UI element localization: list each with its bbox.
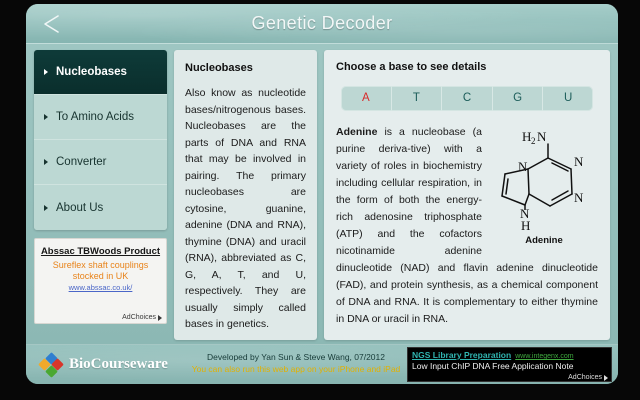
detail-lead: Adenine <box>336 126 377 138</box>
brand-logo[interactable]: BioCourseware <box>40 354 168 376</box>
sidebar-item-label: To Amino Acids <box>56 111 134 123</box>
adchoices-label: AdChoices <box>568 374 602 381</box>
base-selector: A T C G U <box>341 86 593 111</box>
chevron-right-icon <box>44 69 48 75</box>
sidebar-item-to-amino-acids[interactable]: To Amino Acids <box>34 95 167 140</box>
sidebar-ad-body: Sureflex shaft couplings stocked in UK <box>40 260 161 281</box>
biocourseware-diamond-icon <box>40 354 62 376</box>
base-button-a[interactable]: A <box>341 86 392 111</box>
footer-ad-body: Low Input ChIP DNA Free Application Note <box>412 361 607 371</box>
adchoices-triangle-icon <box>158 315 162 321</box>
app-footer: BioCourseware Developed by Yan Sun & Ste… <box>26 344 618 384</box>
amine-n-label: N <box>537 129 547 144</box>
base-button-t[interactable]: T <box>392 86 443 111</box>
molecule-diagram: H 2 N N N N N H Adenine <box>490 122 598 246</box>
info-panel-title: Nucleobases <box>185 62 306 74</box>
page-title: Genetic Decoder <box>26 13 618 34</box>
sidebar-nav: Nucleobases To Amino Acids Converter Abo… <box>34 50 167 230</box>
detail-panel: Choose a base to see details A T C G U <box>324 50 610 340</box>
chevron-right-icon <box>44 159 48 165</box>
molecule-name: Adenine <box>490 235 598 246</box>
footer-ad-headline[interactable]: NGS Library Preparation <box>412 350 511 360</box>
sidebar-advertisement[interactable]: Abssac TBWoods Product Sureflex shaft co… <box>34 238 167 324</box>
app-header: Genetic Decoder <box>26 4 618 44</box>
sidebar-item-about-us[interactable]: About Us <box>34 185 167 230</box>
footer-credits: Developed by Yan Sun & Steve Wang, 07/20… <box>166 351 426 375</box>
sidebar-ad-url[interactable]: www.abssac.co.uk/ <box>40 283 161 292</box>
footer-ad-top-row: NGS Library Preparation www.integenx.com <box>412 350 607 360</box>
chevron-right-icon <box>44 205 48 211</box>
device-frame: Genetic Decoder Nucleobases To Amino Aci… <box>26 4 618 384</box>
ring-n-label-3: N <box>518 159 528 174</box>
adenine-structure-icon: H 2 N N N N N H <box>492 122 596 234</box>
ring-nh-h-label: H <box>521 218 530 233</box>
adchoices-triangle-icon <box>604 375 608 381</box>
sidebar-item-nucleobases[interactable]: Nucleobases <box>34 50 167 95</box>
amine-subscript: 2 <box>531 136 536 146</box>
sidebar-item-label: About Us <box>56 202 103 214</box>
sidebar-item-label: Converter <box>56 156 107 168</box>
adchoices-label: AdChoices <box>122 314 156 321</box>
credit-mobile-note: You can also run this web app on your iP… <box>166 363 426 375</box>
app-root: Genetic Decoder Nucleobases To Amino Aci… <box>0 0 640 400</box>
chevron-right-icon <box>44 114 48 120</box>
footer-ad-url[interactable]: www.integenx.com <box>515 353 573 360</box>
footer-adchoices-button[interactable]: AdChoices <box>568 374 608 381</box>
main-body: Nucleobases To Amino Acids Converter Abo… <box>26 44 618 344</box>
sidebar-item-label: Nucleobases <box>56 66 127 78</box>
sidebar: Nucleobases To Amino Acids Converter Abo… <box>34 50 167 340</box>
ring-n-label-1: N <box>574 154 584 169</box>
ring-n-label-2: N <box>574 190 584 205</box>
sidebar-ad-headline[interactable]: Abssac TBWoods Product <box>40 246 161 257</box>
base-button-c[interactable]: C <box>442 86 493 111</box>
footer-advertisement[interactable]: NGS Library Preparation www.integenx.com… <box>407 347 612 382</box>
base-button-u[interactable]: U <box>543 86 593 111</box>
credit-developers: Developed by Yan Sun & Steve Wang, 07/20… <box>166 351 426 363</box>
sidebar-item-converter[interactable]: Converter <box>34 140 167 185</box>
base-button-g[interactable]: G <box>493 86 544 111</box>
brand-name: BioCourseware <box>69 356 168 373</box>
amine-label: H <box>522 129 531 144</box>
sidebar-adchoices-button[interactable]: AdChoices <box>122 314 162 321</box>
detail-panel-title: Choose a base to see details <box>336 61 598 73</box>
info-panel-text: Also know as nucleotide bases/nitrogenou… <box>185 85 306 333</box>
info-panel: Nucleobases Also know as nucleotide base… <box>174 50 317 340</box>
